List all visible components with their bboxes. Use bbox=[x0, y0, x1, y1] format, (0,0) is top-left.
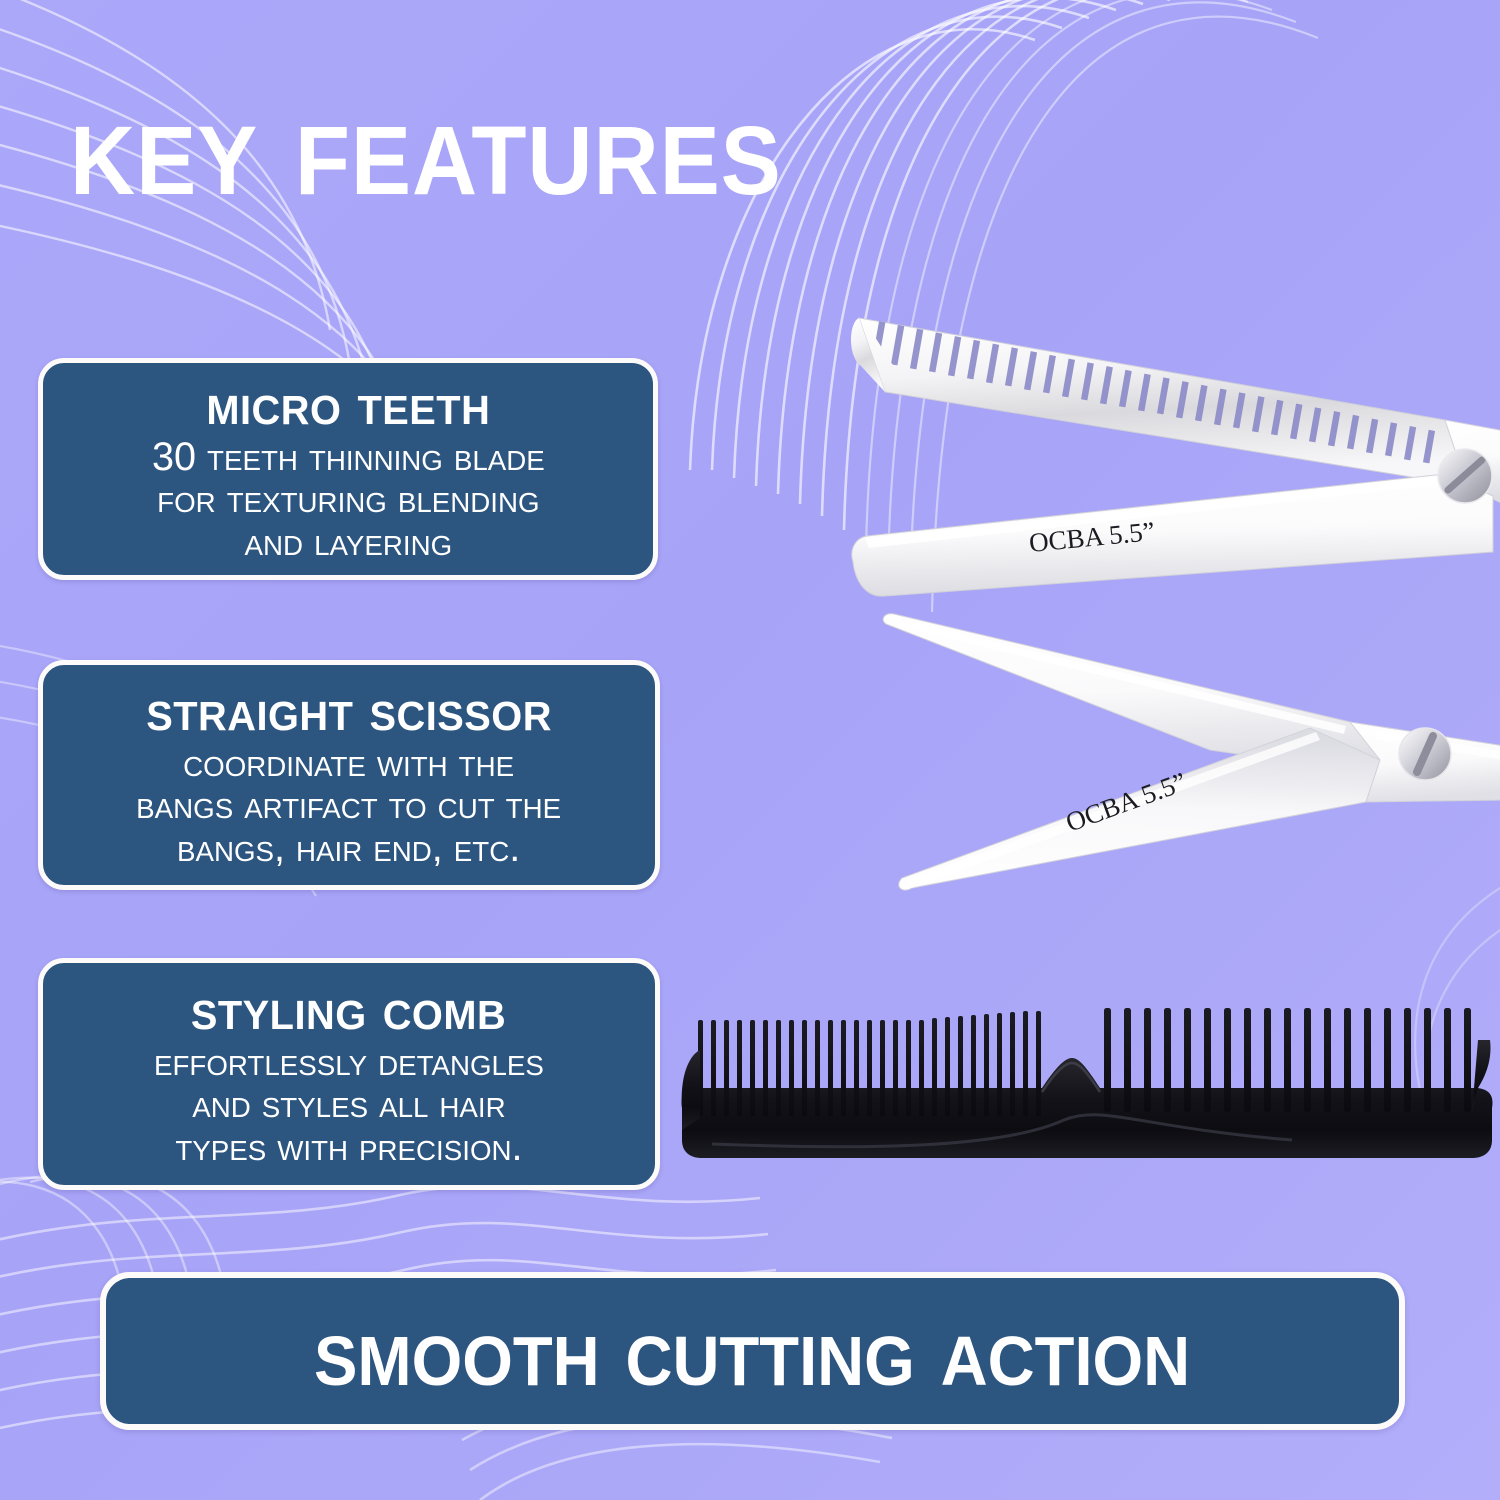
straight-scissor-image: OCBA 5.5” bbox=[880, 610, 1500, 910]
feature-body-line: and styles all hair bbox=[154, 1083, 544, 1125]
feature-body: 30 teeth Thinning Blade For texturing bl… bbox=[146, 436, 551, 563]
feature-heading: Straight Scissor bbox=[146, 681, 552, 740]
feature-body-line: and layering bbox=[152, 521, 545, 563]
feature-heading: Micro Teeth bbox=[206, 375, 490, 434]
feature-body: Coordinate with the bangs artifact to cu… bbox=[131, 742, 568, 869]
feature-body-line: bangs, hair end, etc. bbox=[137, 827, 562, 869]
styling-comb-image bbox=[672, 1000, 1500, 1180]
feature-badge-styling-comb[interactable]: Styling Comb Effortlessly detangles and … bbox=[38, 958, 660, 1190]
feature-body-line: Coordinate with the bbox=[137, 742, 562, 784]
banner-text: Smooth Cutting Action bbox=[314, 1301, 1190, 1401]
thinning-shear-image: OCBA 5.5” bbox=[845, 300, 1500, 610]
feature-body: Effortlessly detangles and styles all ha… bbox=[148, 1041, 550, 1168]
feature-body-line: Effortlessly detangles bbox=[154, 1041, 544, 1083]
bottom-banner[interactable]: Smooth Cutting Action bbox=[100, 1272, 1405, 1430]
feature-body-line: For texturing blending bbox=[152, 478, 545, 520]
thinning-shear-engraving: OCBA 5.5” bbox=[1028, 516, 1156, 558]
feature-badge-micro-teeth[interactable]: Micro Teeth 30 teeth Thinning Blade For … bbox=[38, 358, 658, 580]
page-title: Key Features bbox=[70, 78, 1270, 216]
straight-scissor-engraving: OCBA 5.5” bbox=[1062, 766, 1191, 837]
feature-body-line: types with precision. bbox=[154, 1126, 544, 1168]
feature-body-line: bangs artifact to cut the bbox=[137, 784, 562, 826]
feature-heading: Styling Comb bbox=[191, 980, 506, 1039]
feature-badge-straight-scissor[interactable]: Straight Scissor Coordinate with the ban… bbox=[38, 660, 660, 890]
feature-body-line: 30 teeth Thinning Blade bbox=[152, 436, 545, 478]
infographic-canvas: Key Features Micro Teeth 30 teeth Thinni… bbox=[0, 0, 1500, 1500]
